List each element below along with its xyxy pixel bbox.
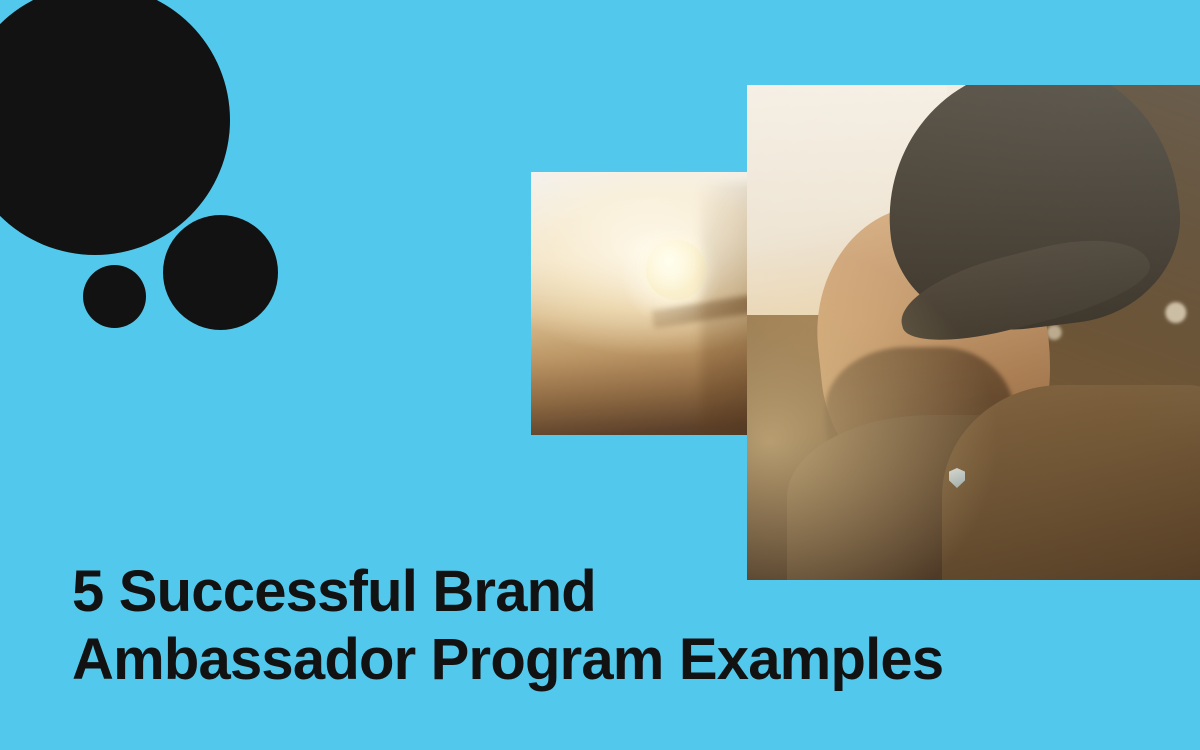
portrait-warm-light-overlay (747, 85, 1200, 580)
decorative-circle-medium (163, 215, 278, 330)
headline-line-2: Ambassador Program Examples (72, 626, 1132, 694)
decorative-circle-small (83, 265, 146, 328)
headline-line-1: 5 Successful Brand (72, 558, 1132, 626)
hero-banner: 5 Successful Brand Ambassador Program Ex… (0, 0, 1200, 750)
decorative-circle-large (0, 0, 230, 255)
photo-man-in-beanie (747, 85, 1200, 580)
headline-title: 5 Successful Brand Ambassador Program Ex… (72, 558, 1132, 694)
